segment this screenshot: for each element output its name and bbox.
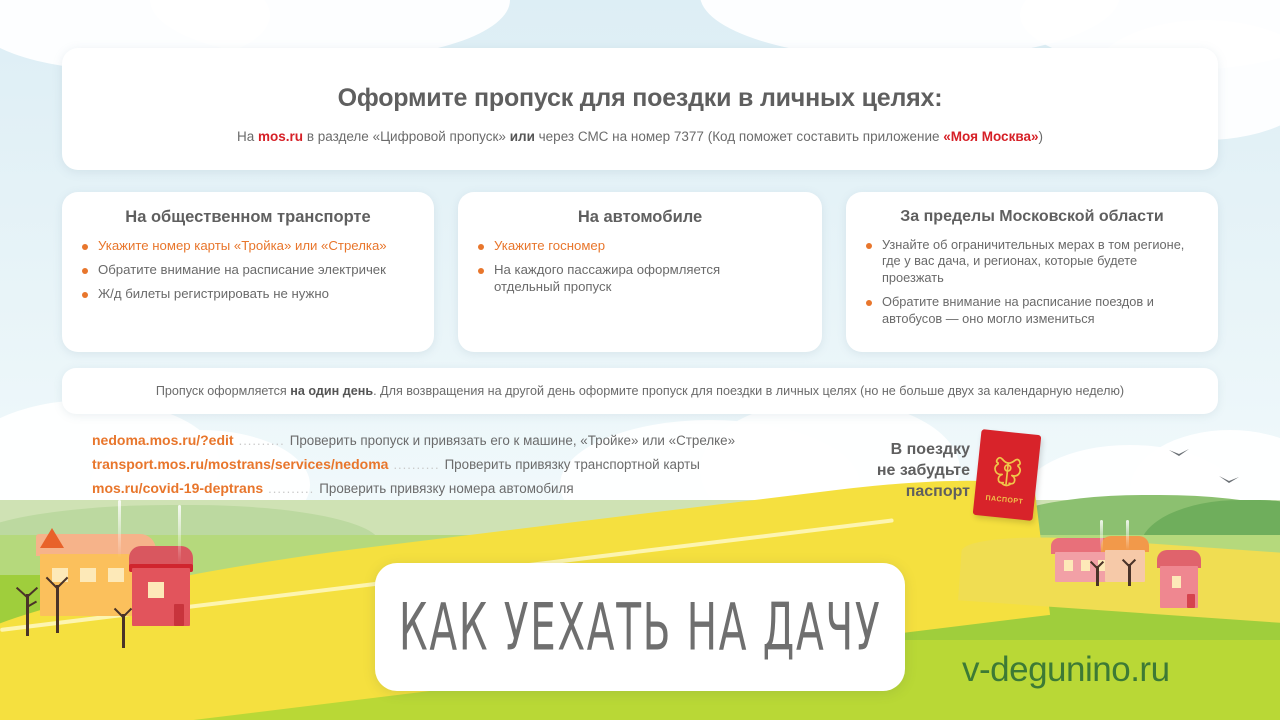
dot-leader: .......... [393,457,439,472]
bird-icon [1168,448,1190,458]
house-wall [1105,550,1145,582]
notice-text: Пропуск оформляется на один день. Для во… [156,384,1124,398]
chimney-smoke [118,500,121,558]
double-headed-eagle-icon [989,452,1027,491]
dot-leader: .......... [268,481,314,496]
card-title: За пределы Московской области [866,208,1198,226]
bird-icon [1218,475,1240,485]
list-item[interactable]: transport.mos.ru/mostrans/services/nedom… [92,456,792,472]
bottom-title: КАК УЕХАТЬ НА ДАЧУ [399,589,881,665]
card-bullet-list: Укажите номер карты «Тройка» или «Стрелк… [82,238,414,303]
subtitle-part-3: через СМС на номер 7377 (Код поможет сос… [535,129,943,144]
site-watermark: v-degunino.ru [962,650,1170,690]
house-red-left [132,568,190,626]
house-window [108,568,124,582]
tree-trunk [1096,566,1099,586]
tree-trunk [122,614,125,648]
house-orange-right [1105,550,1145,582]
list-item: Укажите госномер [478,238,802,255]
notice-part-2: . Для возвращения на другой день оформит… [373,384,1124,398]
page-title: Оформите пропуск для поездки в личных це… [62,84,1218,113]
house-window [1064,560,1073,571]
card-by-car: На автомобиле Укажите госномер На каждог… [458,192,822,352]
header-subtitle: На mos.ru в разделе «Цифровой пропуск» и… [62,129,1218,144]
passport-label: ПАСПОРТ [974,494,1034,507]
bottom-title-box: КАК УЕХАТЬ НА ДАЧУ [375,563,905,691]
tree-trunk [1128,564,1131,586]
link-description: Проверить пропуск и привязать его к маши… [290,433,735,448]
tree-trunk [26,594,29,636]
house-window [148,582,164,598]
passport-reminder-text: В поездку не забудьте паспорт [848,440,970,502]
house-red-right [1160,566,1198,608]
passport-note-line-3: паспорт [848,482,970,503]
notice-bold: на один день [290,384,373,398]
dot-leader: .......... [239,433,285,448]
roof-gable [40,528,64,548]
card-public-transport: На общественном транспорте Укажите номер… [62,192,434,352]
cards-row: На общественном транспорте Укажите номер… [62,192,1218,352]
list-item: Ж/д билеты регистрировать не нужно [82,286,414,303]
link-url[interactable]: mos.ru/covid-19-deptrans [92,480,263,496]
house-door [174,604,184,626]
passport-note-line-2: не забудьте [848,461,970,482]
subtitle-part-1: На [237,129,258,144]
subtitle-part-2: в разделе «Цифровой пропуск» [303,129,510,144]
list-item: Укажите номер карты «Тройка» или «Стрелк… [82,238,414,255]
card-bullet-list: Узнайте об ограничительных мерах в том р… [866,237,1198,327]
subtitle-or: или [510,129,535,144]
list-item: На каждого пассажира оформляется отдельн… [478,262,739,296]
infographic-poster: Оформите пропуск для поездки в личных це… [0,0,1280,720]
header-panel: Оформите пропуск для поездки в личных це… [62,48,1218,170]
passport-icon: ПАСПОРТ [973,429,1042,521]
link-description: Проверить привязку номера автомобиля [319,481,573,496]
link-description: Проверить привязку транспортной карты [445,457,700,472]
tree-trunk [56,585,59,633]
notice-part-1: Пропуск оформляется [156,384,290,398]
card-title: На общественном транспорте [82,208,414,227]
chimney-smoke [1126,520,1129,550]
link-url[interactable]: transport.mos.ru/mostrans/services/nedom… [92,456,388,472]
passport-note-line-1: В поездку [848,440,970,461]
list-item[interactable]: nedoma.mos.ru/?edit .......... Проверить… [92,432,792,448]
notice-bar: Пропуск оформляется на один день. Для во… [62,368,1218,414]
house-window [80,568,96,582]
mos-ru-link[interactable]: mos.ru [258,129,303,144]
chimney-smoke [1100,520,1103,552]
card-title: На автомобиле [478,208,802,227]
app-name: «Моя Москва» [943,129,1038,144]
house-window [1172,576,1181,588]
card-outside-moscow-region: За пределы Московской области Узнайте об… [846,192,1218,352]
link-list: nedoma.mos.ru/?edit .......... Проверить… [92,432,792,504]
house-door [1187,594,1195,608]
list-item[interactable]: mos.ru/covid-19-deptrans .......... Пров… [92,480,792,496]
subtitle-part-4: ) [1038,129,1043,144]
list-item: Узнайте об ограничительных мерах в том р… [866,237,1198,286]
list-item: Обратите внимание на расписание поездов … [866,294,1172,327]
chimney-smoke [178,505,181,563]
card-bullet-list: Укажите госномер На каждого пассажира оф… [478,238,802,296]
link-url[interactable]: nedoma.mos.ru/?edit [92,432,234,448]
list-item: Обратите внимание на расписание электрич… [82,262,414,279]
